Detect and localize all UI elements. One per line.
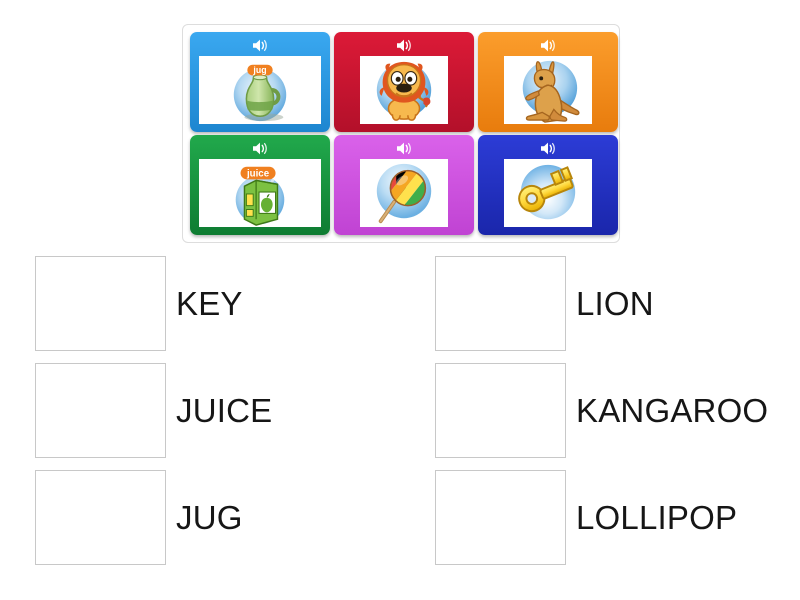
- speaker-icon-glyph: [251, 38, 269, 53]
- drop-box-lion[interactable]: [435, 256, 566, 351]
- answer-label-jug: JUG: [176, 501, 243, 534]
- answer-label-lion: LION: [576, 287, 654, 320]
- answer-pair: LION: [400, 256, 800, 351]
- speaker-icon-glyph: [395, 141, 413, 156]
- speaker-icon[interactable]: [190, 140, 330, 157]
- speaker-icon[interactable]: [190, 37, 330, 54]
- tile-kangaroo[interactable]: [478, 32, 618, 132]
- drop-box-key[interactable]: [35, 256, 166, 351]
- juice-illustration: juice: [199, 159, 321, 227]
- speaker-icon[interactable]: [478, 37, 618, 54]
- answer-row: JUICE KANGAROO: [0, 357, 800, 464]
- answer-area: KEY LION JUICE KANGAROO JUG LOLLIPOP: [0, 250, 800, 571]
- tile-grid: jug: [190, 32, 613, 235]
- answer-row: KEY LION: [0, 250, 800, 357]
- drop-box-lollipop[interactable]: [435, 470, 566, 565]
- speaker-icon-glyph: [539, 141, 557, 156]
- answer-pair: JUG: [0, 470, 400, 565]
- kangaroo-illustration: [504, 56, 592, 124]
- tile-caption-juice: juice: [246, 168, 270, 179]
- tile-image-frame: jug: [199, 56, 321, 124]
- speaker-icon[interactable]: [334, 37, 474, 54]
- lion-illustration: [360, 56, 448, 124]
- answer-row: JUG LOLLIPOP: [0, 464, 800, 571]
- answer-pair: KANGAROO: [400, 363, 800, 458]
- answer-pair: KEY: [0, 256, 400, 351]
- tile-caption-jug: jug: [252, 65, 266, 75]
- tile-key[interactable]: [478, 135, 618, 235]
- answer-label-juice: JUICE: [176, 394, 272, 427]
- tile-lollipop[interactable]: [334, 135, 474, 235]
- tile-lion[interactable]: [334, 32, 474, 132]
- speaker-icon[interactable]: [334, 140, 474, 157]
- tile-jug[interactable]: jug: [190, 32, 330, 132]
- speaker-icon-glyph: [395, 38, 413, 53]
- answer-pair: LOLLIPOP: [400, 470, 800, 565]
- tile-image-frame: [504, 159, 592, 227]
- lollipop-illustration: [360, 159, 448, 227]
- drop-box-kangaroo[interactable]: [435, 363, 566, 458]
- drop-box-jug[interactable]: [35, 470, 166, 565]
- tile-image-frame: juice: [199, 159, 321, 227]
- speaker-icon[interactable]: [478, 140, 618, 157]
- key-illustration: [504, 159, 592, 227]
- tile-juice[interactable]: juice: [190, 135, 330, 235]
- jug-illustration: jug: [199, 56, 321, 124]
- drop-box-juice[interactable]: [35, 363, 166, 458]
- tile-image-frame: [360, 56, 448, 124]
- answer-label-key: KEY: [176, 287, 243, 320]
- answer-label-lollipop: LOLLIPOP: [576, 501, 737, 534]
- speaker-icon-glyph: [539, 38, 557, 53]
- answer-label-kangaroo: KANGAROO: [576, 394, 768, 427]
- answer-pair: JUICE: [0, 363, 400, 458]
- tile-tray: jug: [182, 24, 620, 243]
- tile-image-frame: [504, 56, 592, 124]
- tile-image-frame: [360, 159, 448, 227]
- speaker-icon-glyph: [251, 141, 269, 156]
